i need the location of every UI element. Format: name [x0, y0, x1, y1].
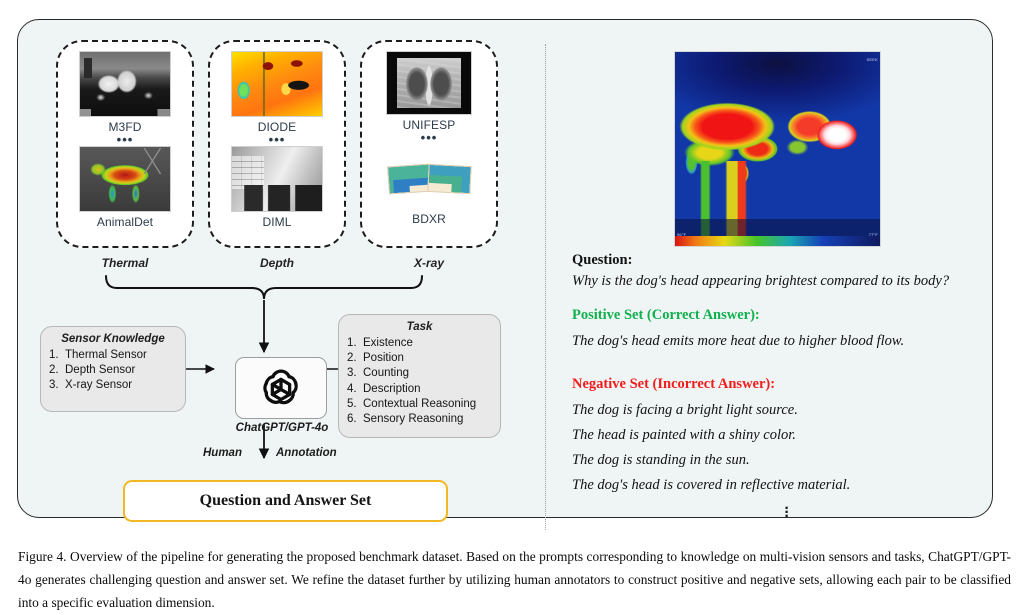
group-caption-thermal: Thermal — [56, 256, 194, 270]
task-title: Task — [347, 321, 492, 333]
list-label: Counting — [363, 366, 409, 381]
dataset-label-bdxr: BDXR — [412, 212, 446, 226]
question-section: Question: Why is the dog's head appearin… — [572, 252, 949, 290]
group-caption-depth: Depth — [208, 256, 346, 270]
question-text: Why is the dog's head appearing brightes… — [572, 273, 949, 290]
list-item: 2. Depth Sensor — [49, 363, 177, 378]
photo-dog-head — [782, 99, 868, 169]
negative-answer-text: The dog's head is covered in reflective … — [572, 477, 850, 494]
photo-temp-min-label: 77°F — [869, 232, 878, 237]
chatgpt-node-caption: ChatGPT/GPT-4o — [208, 422, 356, 434]
list-item: 6. Sensory Reasoning — [347, 412, 492, 427]
list-number: 3. — [347, 366, 358, 381]
list-label: Depth Sensor — [65, 363, 135, 378]
dataset-ellipsis-depth: ••• — [269, 136, 286, 143]
more-examples-vertical-ellipsis-icon: ··· — [572, 507, 1002, 519]
list-item: 3. X-ray Sensor — [49, 378, 177, 393]
negative-set-section: Negative Set (Incorrect Answer): The dog… — [572, 376, 850, 494]
figure-caption: Figure 4. Overview of the pipeline for g… — [18, 545, 1011, 614]
sensor-knowledge-title: Sensor Knowledge — [49, 333, 177, 345]
list-number: 4. — [347, 382, 358, 397]
list-item: 5. Contextual Reasoning — [347, 397, 492, 412]
question-answer-set-label: Question and Answer Set — [200, 492, 372, 510]
thumbnail-diode — [231, 51, 323, 117]
sensor-knowledge-list: 1. Thermal Sensor 2. Depth Sensor 3. X-r… — [49, 348, 177, 394]
negative-answer-text: The head is painted with a shiny color. — [572, 427, 850, 444]
thumbnail-bdxr — [383, 152, 475, 202]
dataset-group-xray: UNIFESP ••• BDXR — [360, 40, 498, 248]
dataset-ellipsis-thermal: ••• — [117, 136, 134, 143]
negative-answer-text: The dog is standing in the sun. — [572, 452, 850, 469]
annotation-label-annotation: Annotation — [276, 447, 337, 459]
list-label: Description — [363, 382, 421, 397]
thumbnail-unifesp — [386, 51, 472, 115]
photo-ui-strip — [675, 219, 880, 236]
chatgpt-model-node — [235, 357, 327, 419]
list-item: 4. Description — [347, 382, 492, 397]
sensor-knowledge-box: Sensor Knowledge 1. Thermal Sensor 2. De… — [40, 326, 186, 412]
task-box: Task 1. Existence 2. Position 3. Countin… — [338, 314, 501, 438]
list-label: X-ray Sensor — [65, 378, 132, 393]
dataset-group-depth: DIODE ••• DIML — [208, 40, 346, 248]
list-number: 2. — [49, 363, 60, 378]
positive-set-section: Positive Set (Correct Answer): The dog's… — [572, 307, 904, 350]
thermal-dog-photo: SEEK 96°F 77°F — [674, 51, 881, 247]
list-item: 3. Counting — [347, 366, 492, 381]
dataset-label-diml: DIML — [262, 215, 291, 229]
openai-logo-icon — [258, 365, 304, 411]
panel-divider — [545, 44, 546, 530]
figure-panel: M3FD ••• AnimalDet Thermal DIODE ••• DIM… — [17, 19, 993, 518]
thumbnail-animaldet — [79, 146, 171, 212]
photo-temperature-scale-bar — [675, 236, 880, 246]
list-label: Existence — [363, 336, 413, 351]
list-number: 1. — [347, 336, 358, 351]
photo-brand-label: SEEK — [867, 57, 878, 62]
question-answer-set-box: Question and Answer Set — [123, 480, 448, 522]
list-label: Sensory Reasoning — [363, 412, 463, 427]
list-label: Thermal Sensor — [65, 348, 147, 363]
negative-answer-text: The dog is facing a bright light source. — [572, 402, 850, 419]
thumbnail-diml — [231, 146, 323, 212]
positive-answer-text: The dog's head emits more heat due to hi… — [572, 333, 904, 350]
list-number: 1. — [49, 348, 60, 363]
dataset-label-animaldet: AnimalDet — [97, 215, 153, 229]
list-item: 1. Existence — [347, 336, 492, 351]
list-item: 1. Thermal Sensor — [49, 348, 177, 363]
annotation-label-human: Human — [203, 447, 242, 459]
list-label: Position — [363, 351, 404, 366]
list-number: 2. — [347, 351, 358, 366]
task-list: 1. Existence 2. Position 3. Counting 4. … — [347, 336, 492, 427]
list-number: 3. — [49, 378, 60, 393]
group-caption-xray: X-ray — [360, 256, 498, 270]
dataset-group-thermal: M3FD ••• AnimalDet — [56, 40, 194, 248]
list-label: Contextual Reasoning — [363, 397, 476, 412]
list-number: 5. — [347, 397, 358, 412]
list-item: 2. Position — [347, 351, 492, 366]
negative-set-heading: Negative Set (Incorrect Answer): — [572, 376, 850, 393]
photo-temp-max-label: 96°F — [677, 232, 686, 237]
dataset-ellipsis-xray: ••• — [421, 134, 438, 141]
positive-set-heading: Positive Set (Correct Answer): — [572, 307, 904, 324]
thumbnail-m3fd — [79, 51, 171, 117]
question-heading: Question: — [572, 252, 949, 269]
